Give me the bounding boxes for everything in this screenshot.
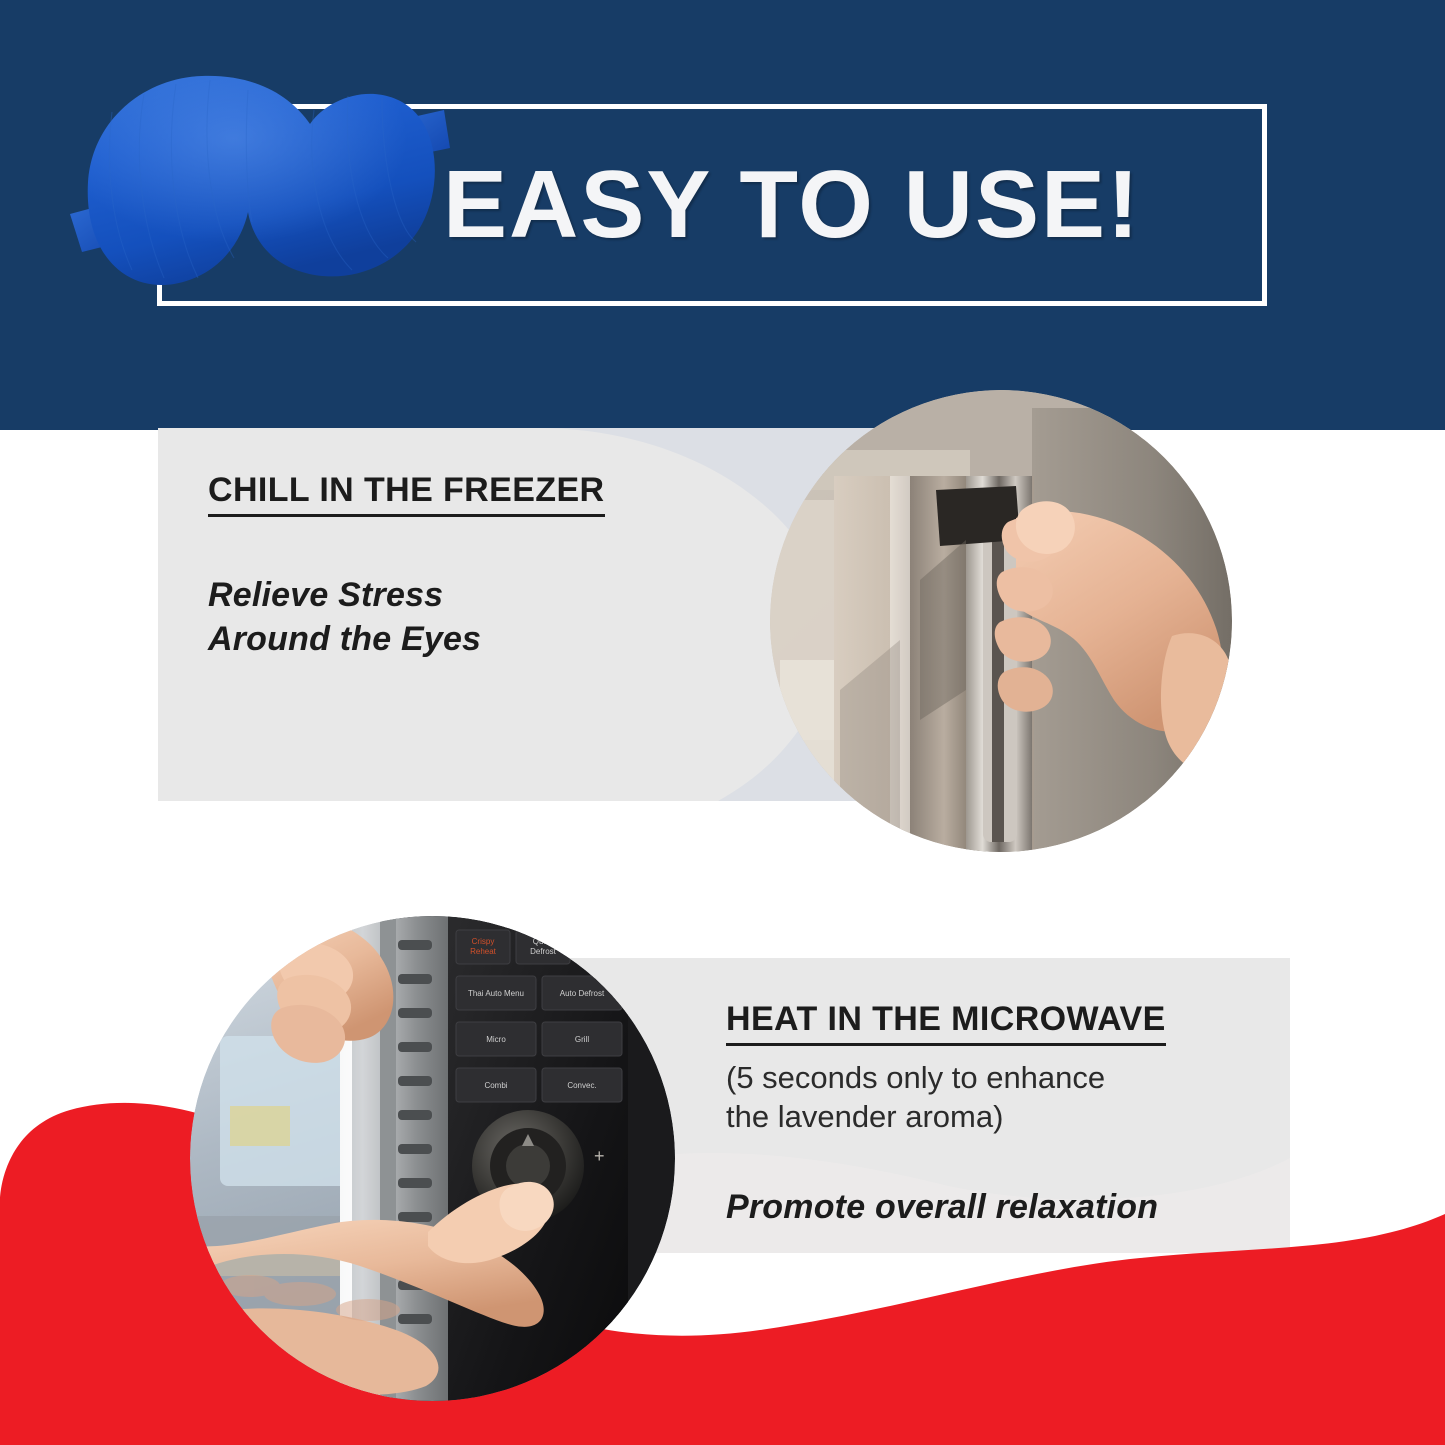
photo-microwave-panel: Crispy Reheat Quick Defrost Clock Thai A… [190, 916, 675, 1401]
svg-text:Defrost: Defrost [530, 947, 557, 956]
svg-text:Combi: Combi [484, 1081, 507, 1090]
svg-text:Auto Defrost: Auto Defrost [560, 989, 605, 998]
svg-text:Thai Auto Menu: Thai Auto Menu [468, 989, 524, 998]
infographic-canvas: EASY TO USE! [0, 0, 1445, 1445]
svg-text:Micro: Micro [486, 1035, 506, 1044]
svg-text:Crispy: Crispy [472, 937, 495, 946]
svg-text:Convec.: Convec. [567, 1081, 596, 1090]
svg-text:Reheat: Reheat [470, 947, 497, 956]
svg-text:+: + [594, 1146, 605, 1166]
eye-mask-product-image [52, 62, 452, 312]
svg-text:Grill: Grill [575, 1035, 589, 1044]
photo-refrigerator-door [770, 390, 1232, 852]
